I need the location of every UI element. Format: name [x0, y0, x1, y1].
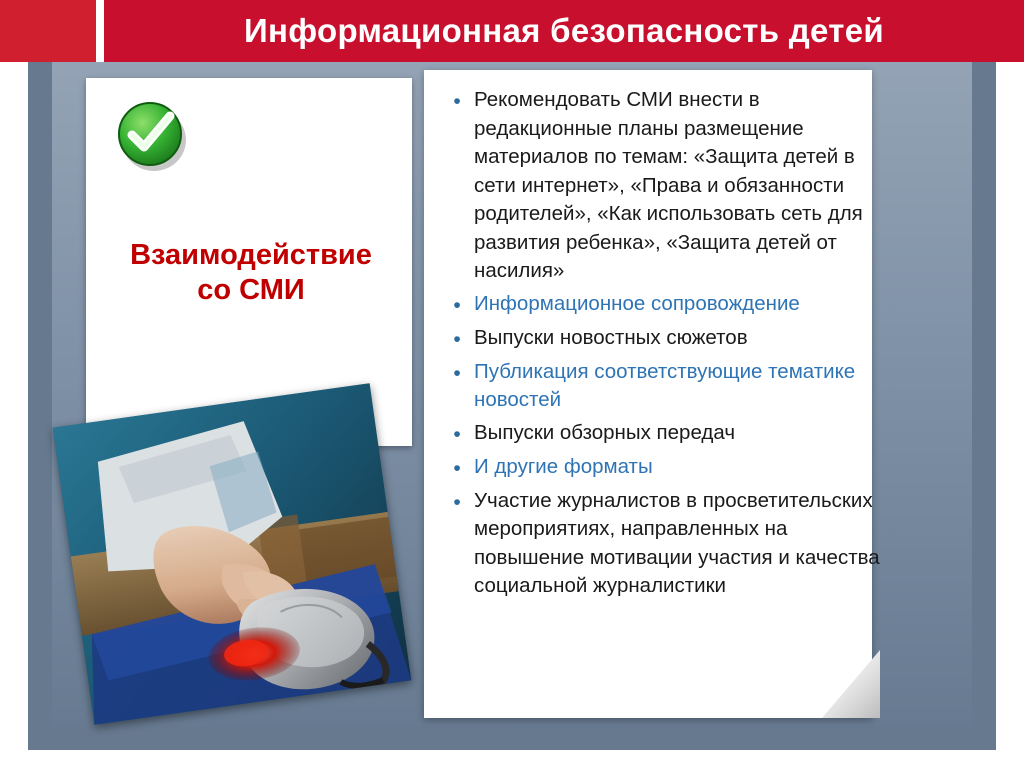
left-card-title-line1: Взаимодействие	[96, 238, 406, 273]
list-item-text: Публикация соответствующие тематике ново…	[474, 358, 880, 415]
bullet-dot-icon: •	[440, 324, 474, 354]
list-item-text: Выпуски новостных сюжетов	[474, 324, 880, 353]
list-item-text: Рекомендовать СМИ внести в редакционные …	[474, 86, 880, 286]
bullet-dot-icon: •	[440, 290, 474, 320]
list-item: • Информационное сопровождение	[440, 290, 880, 320]
bullet-dot-icon: •	[440, 358, 474, 388]
list-item-text: Информационное сопровождение	[474, 290, 880, 319]
list-item: • Выпуски новостных сюжетов	[440, 324, 880, 354]
bullet-dot-icon: •	[440, 86, 474, 116]
list-item: • Публикация соответствующие тематике но…	[440, 358, 880, 415]
list-item-text: И другие форматы	[474, 453, 880, 482]
list-item: • И другие форматы	[440, 453, 880, 483]
bullet-dot-icon: •	[440, 419, 474, 449]
page-title: Информационная безопасность детей	[104, 0, 1024, 62]
list-item-text: Участие журналистов в просветительских м…	[474, 487, 880, 601]
list-item-text: Выпуски обзорных передач	[474, 419, 880, 448]
header-left-block	[0, 0, 104, 62]
list-item: • Участие журналистов в просветительских…	[440, 487, 880, 601]
list-item: • Выпуски обзорных передач	[440, 419, 880, 449]
left-card-title: Взаимодействие со СМИ	[96, 238, 406, 309]
bullet-list: • Рекомендовать СМИ внести в редакционны…	[440, 86, 880, 605]
green-check-icon	[112, 96, 190, 174]
left-card-title-line2: со СМИ	[96, 273, 406, 308]
header-left-accent	[0, 0, 96, 62]
slide: Информационная безопасность детей Взаимо…	[0, 0, 1024, 767]
left-margin	[0, 62, 28, 767]
bullet-dot-icon: •	[440, 453, 474, 483]
bottom-margin	[0, 750, 1024, 767]
right-margin	[996, 62, 1024, 767]
child-hand-on-computer-mouse-photo	[53, 383, 412, 725]
list-item: • Рекомендовать СМИ внести в редакционны…	[440, 86, 880, 286]
bullet-dot-icon: •	[440, 487, 474, 517]
